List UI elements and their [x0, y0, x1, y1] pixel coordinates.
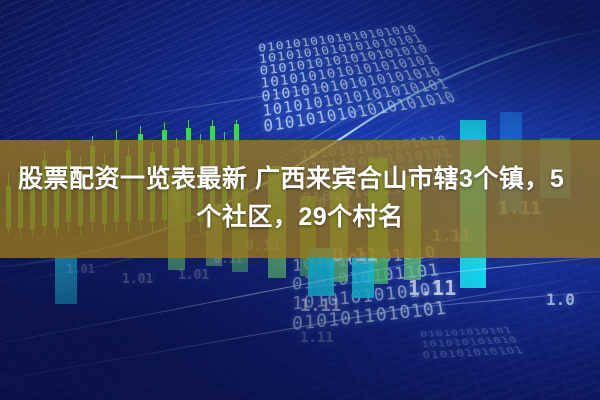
- page-title: 股票配资一览表最新 广西来宾合山市辖3个镇，5 个社区，29个村名: [0, 160, 600, 236]
- headline-line-1: 股票配资一览表最新 广西来宾合山市辖3个镇，5: [18, 160, 582, 198]
- banner-image: 0101010101010101010 1010101010101010101 …: [0, 0, 600, 400]
- headline-line-2: 个社区，29个村名: [18, 198, 582, 236]
